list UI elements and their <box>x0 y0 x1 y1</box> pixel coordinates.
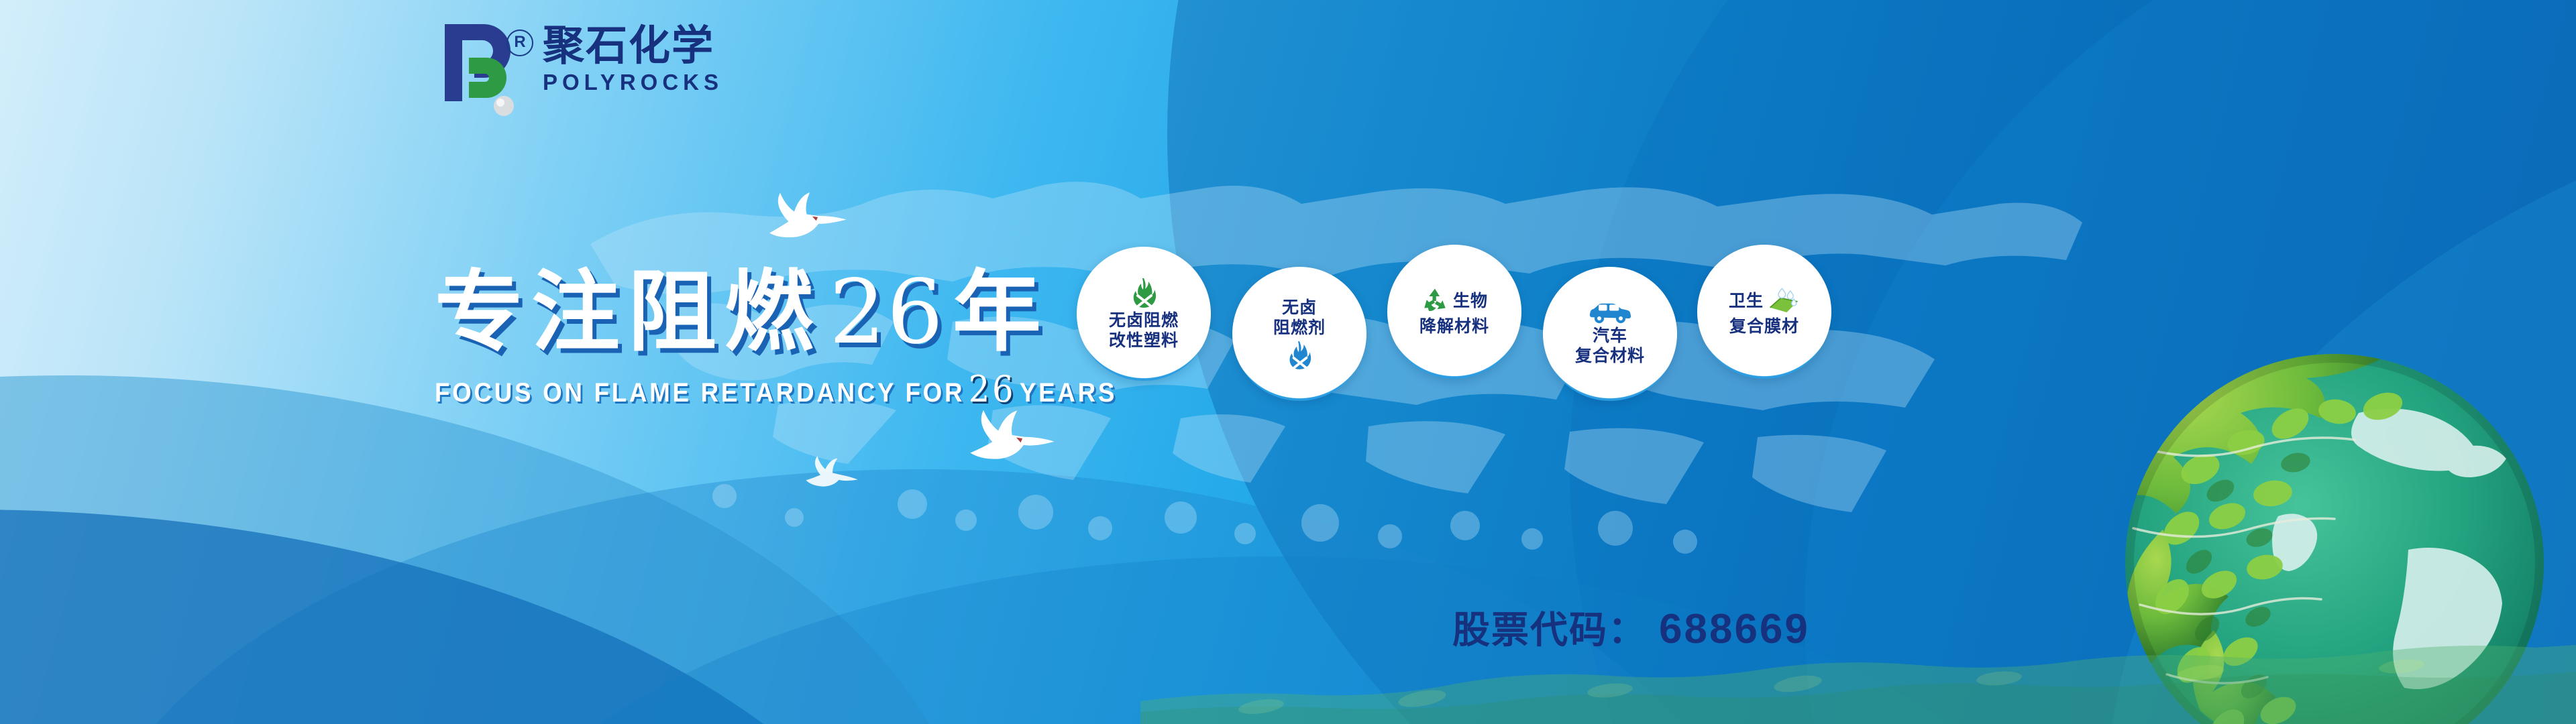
badge-label: 无卤 阻燃剂 <box>1273 298 1326 339</box>
stock-code-value: 688669 <box>1650 609 1810 650</box>
stock-code-label: 股票代码： <box>1452 612 1647 650</box>
promotional-banner: R 聚石化学 POLYROCKS 专注阻燃26年 FOCUS ON FLAME … <box>0 0 2576 724</box>
badge-label-line: 降解材料 <box>1419 316 1489 337</box>
badge-label: 汽车 复合材料 <box>1575 326 1645 367</box>
badge-biodegradable-materials[interactable]: 生物 降解材料 <box>1387 245 1521 379</box>
badge-automotive-composites[interactable]: 汽车 复合材料 <box>1543 267 1677 401</box>
badge-label-line: 卫生 <box>1729 291 1764 312</box>
badge-hygiene-composite-film[interactable]: 卫生 复合膜材 <box>1697 245 1831 379</box>
badge-label-line: 生物 <box>1453 291 1488 312</box>
badge-label-line: 复合膜材 <box>1729 316 1799 337</box>
green-flame-no-halogen-icon <box>1130 277 1157 309</box>
waterproof-membrane-droplets-icon <box>1768 287 1800 315</box>
product-badge-group: 无卤阻燃 改性塑料 无卤 阻燃剂 <box>0 0 2576 724</box>
badge-label-line: 汽车 <box>1575 326 1645 347</box>
badge-halogen-free-flame-retardant[interactable]: 无卤 阻燃剂 <box>1232 267 1366 401</box>
badge-halogen-free-modified-plastics[interactable]: 无卤阻燃 改性塑料 <box>1077 247 1211 381</box>
blue-flame-no-halogen-icon <box>1287 340 1312 371</box>
recycle-leaf-icon <box>1421 287 1449 315</box>
stock-code: 股票代码：688669 <box>1452 609 1810 650</box>
badge-label-line: 改性塑料 <box>1109 330 1179 351</box>
badge-label: 无卤阻燃 改性塑料 <box>1109 310 1179 351</box>
badge-label-line: 无卤 <box>1273 298 1326 318</box>
car-icon <box>1589 302 1631 324</box>
badge-label-line: 无卤阻燃 <box>1109 310 1179 331</box>
badge-label-line: 阻燃剂 <box>1273 318 1326 339</box>
badge-label-line: 复合材料 <box>1575 346 1645 367</box>
